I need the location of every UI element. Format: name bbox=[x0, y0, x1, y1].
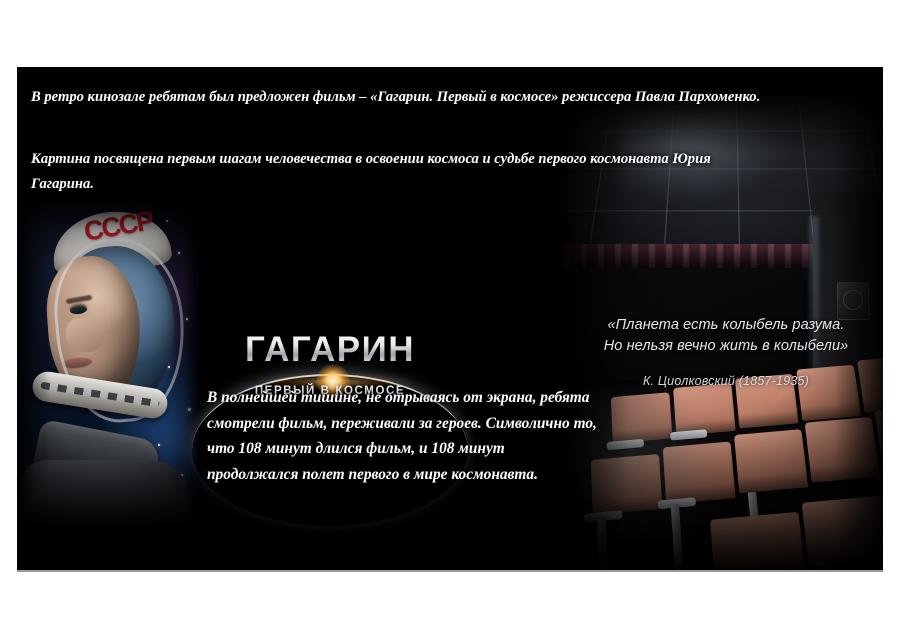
paragraph-intro: В ретро кинозале ребятам был предложен ф… bbox=[31, 87, 881, 107]
presentation-slide: «Планета есть колыбель разума. Но нельзя… bbox=[17, 67, 883, 570]
quote-line-2: Но нельзя вечно жить в колыбели» bbox=[592, 336, 860, 357]
film-logo: ГАГАРИН ПЕРВЫЙ В КОСМОСЕ bbox=[220, 272, 440, 377]
seat bbox=[734, 429, 808, 493]
quote-line-1: «Планета есть колыбель разума. bbox=[592, 315, 860, 336]
seat-leg bbox=[671, 505, 684, 570]
paragraph-impression: В полнейшей тишине, не отрываясь от экра… bbox=[207, 385, 597, 487]
seat bbox=[805, 417, 881, 483]
seat-armrest bbox=[670, 429, 707, 440]
seat-leg bbox=[597, 518, 608, 570]
paragraph-about: Картина посвящена первым шагам человечес… bbox=[31, 147, 731, 197]
screen-quote: «Планета есть колыбель разума. Но нельзя… bbox=[592, 315, 860, 388]
seat bbox=[663, 442, 736, 505]
slide-canvas: «Планета есть колыбель разума. Но нельзя… bbox=[0, 0, 900, 636]
seat bbox=[611, 392, 673, 443]
slide-bottom-rule bbox=[17, 570, 883, 572]
seat bbox=[673, 383, 736, 436]
seat-armrest bbox=[607, 439, 644, 450]
quote-author: К. Циолковский (1857-1935) bbox=[592, 374, 860, 388]
seat bbox=[710, 512, 806, 570]
cosmonaut-photo: СССР bbox=[18, 198, 199, 528]
seat bbox=[591, 454, 663, 515]
seat bbox=[857, 356, 883, 414]
seat bbox=[802, 495, 883, 567]
spacesuit bbox=[20, 460, 190, 528]
